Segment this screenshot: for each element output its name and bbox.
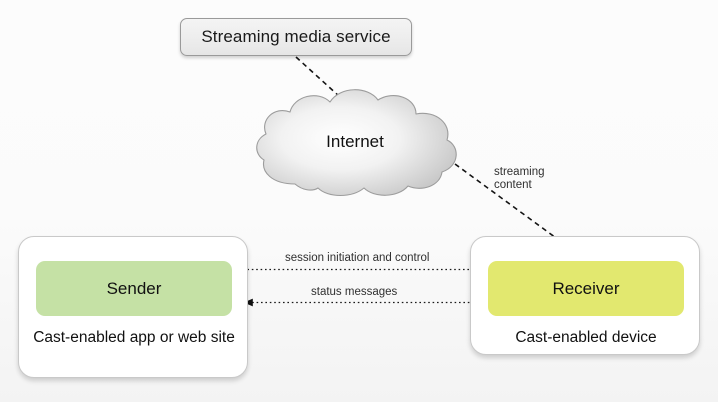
edge-label-session-initiation: session initiation and control [285,252,429,265]
receiver-caption: Cast-enabled device [471,327,701,349]
receiver-label: Receiver [552,279,619,299]
sender-caption: Cast-enabled app or web site [19,327,249,349]
node-streaming-media-service[interactable]: Streaming media service [180,18,412,56]
edge-label-streaming-content: streaming content [494,166,545,192]
node-receiver-card[interactable]: Receiver Cast-enabled device [470,236,700,355]
node-internet-cloud[interactable]: Internet [248,88,462,200]
edge-label-status-messages: status messages [311,286,397,299]
node-sender-card[interactable]: Sender Cast-enabled app or web site [18,236,248,378]
sender-label: Sender [107,279,162,299]
diagram-canvas: Streaming media service Internet Sender … [0,0,718,402]
internet-label: Internet [248,132,462,152]
sender-box[interactable]: Sender [36,261,232,316]
streaming-media-service-label: Streaming media service [201,27,390,47]
receiver-box[interactable]: Receiver [488,261,684,316]
